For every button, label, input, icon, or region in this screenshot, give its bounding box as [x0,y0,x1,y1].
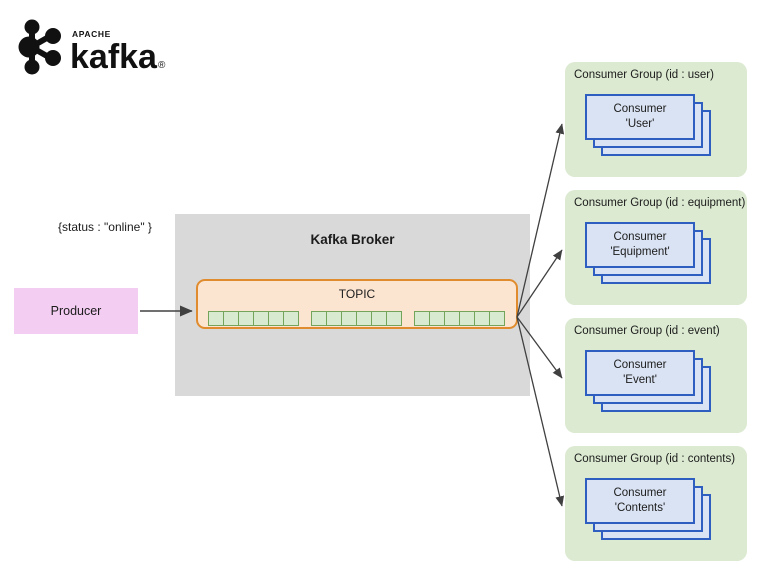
partition-cell [268,311,284,326]
partition-cell [326,311,342,326]
consumer-group-event[interactable]: Consumer Group (id : event) Consumer 'Ev… [565,318,747,433]
consumer-card-front[interactable]: Consumer 'Event' [585,350,695,396]
topic-title: TOPIC [198,287,516,301]
producer-status-annotation: {status : "online" } [58,220,152,234]
partition-cell [414,311,430,326]
partition-cell [253,311,269,326]
consumer-group-contents[interactable]: Consumer Group (id : contents) Consumer … [565,446,747,561]
consumer-name: 'Event' [623,373,657,388]
producer-box[interactable]: Producer [14,288,138,334]
partition-group [208,311,298,326]
consumer-name: 'Contents' [615,501,665,516]
consumer-title: Consumer [613,358,666,373]
consumer-card-front[interactable]: Consumer 'User' [585,94,695,140]
consumer-group-label: Consumer Group (id : contents) [574,453,735,465]
consumer-group-label: Consumer Group (id : user) [574,69,714,81]
consumer-stack: Consumer 'User' [585,94,717,166]
consumer-stack: Consumer 'Equipment' [585,222,717,294]
partition-cell [311,311,327,326]
logo-wordmark: kafka [70,38,158,76]
consumer-stack: Consumer 'Event' [585,350,717,422]
consumer-name: 'User' [626,117,655,132]
kafka-broker-title: Kafka Broker [175,232,530,247]
partition-cell [474,311,490,326]
partition-cell [208,311,224,326]
partition-cell [341,311,357,326]
partition-cell [371,311,387,326]
kafka-architecture-diagram: APACHE kafka ® {status : "online" } Prod… [0,0,780,581]
consumer-card-front[interactable]: Consumer 'Contents' [585,478,695,524]
partition-cell [429,311,445,326]
consumer-stack: Consumer 'Contents' [585,478,717,550]
consumer-group-label: Consumer Group (id : equipment) [574,197,745,209]
partition-cell [459,311,475,326]
partition-cell [386,311,402,326]
consumer-group-equipment[interactable]: Consumer Group (id : equipment) Consumer… [565,190,747,305]
consumer-group-user[interactable]: Consumer Group (id : user) Consumer 'Use… [565,62,747,177]
consumer-name: 'Equipment' [610,245,669,260]
apache-kafka-logo: APACHE kafka ® [12,16,172,78]
partition-group [311,311,401,326]
partition-cell [283,311,299,326]
consumer-title: Consumer [613,486,666,501]
producer-label: Producer [51,304,102,318]
consumer-group-label: Consumer Group (id : event) [574,325,720,337]
partition-cell [356,311,372,326]
partition-cell [489,311,505,326]
topic-box[interactable]: TOPIC [196,279,518,329]
logo-registered-mark: ® [158,60,166,71]
partition-cell [444,311,460,326]
partition-cell [238,311,254,326]
partition-cell [223,311,239,326]
consumer-title: Consumer [613,230,666,245]
consumer-title: Consumer [613,102,666,117]
partition-group [414,311,504,326]
consumer-card-front[interactable]: Consumer 'Equipment' [585,222,695,268]
